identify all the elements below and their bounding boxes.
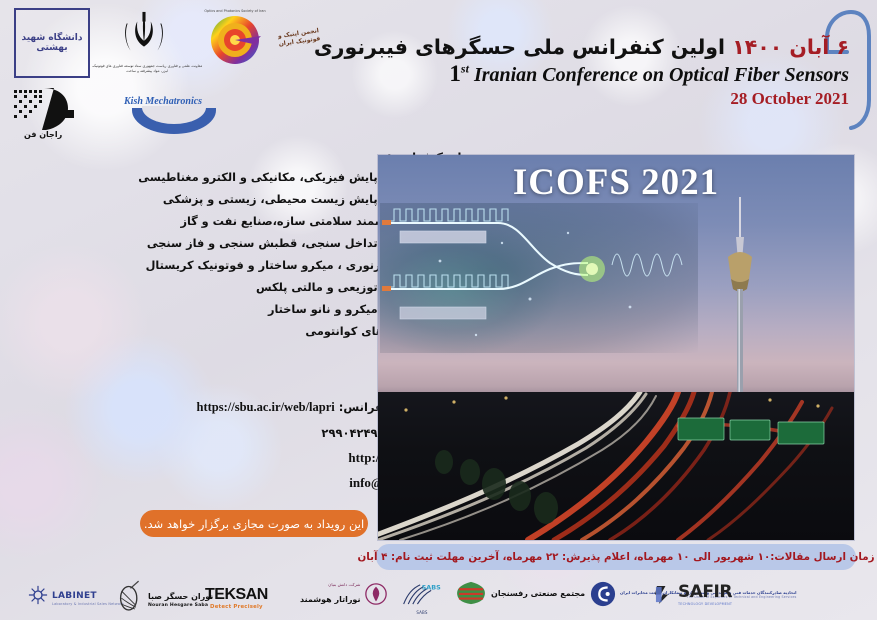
sbu-logo-text: دانشگاه شهید بهشتی bbox=[16, 33, 88, 54]
virtual-event-notice: این رویداد به صورت مجازی برگزار خواهد شد… bbox=[140, 510, 368, 537]
logo-shahid-beheshti-university: دانشگاه شهید بهشتی bbox=[14, 8, 90, 78]
opsi-caption: Optics and Photonics Society of Iran bbox=[204, 9, 265, 13]
sabs-mark-icon: SABS bbox=[400, 582, 444, 606]
teksan-tagline: Detect Precisely bbox=[205, 604, 268, 610]
conference-date-persian: ۶ آبان ۱۴۰۰ bbox=[732, 35, 849, 59]
sabs-label: SABS bbox=[400, 610, 444, 615]
safir-mark-icon bbox=[655, 584, 674, 605]
nouran-saba-label: نوران حسگر صبا Nouran Hesgare Saba bbox=[148, 584, 213, 608]
nouran-saba-mark-icon bbox=[117, 580, 144, 611]
rafsanjan-mark-icon bbox=[455, 580, 487, 606]
sabs-wordmark: SABS bbox=[422, 583, 441, 591]
optical-waveguide-graphic bbox=[380, 203, 698, 353]
iran-emblem-icon bbox=[115, 10, 173, 62]
kish-swoosh-shape bbox=[132, 108, 216, 134]
sponsor-teksan: TEKSAN Detect Precisely bbox=[205, 584, 268, 610]
conference-date-english: 28 October 2021 bbox=[329, 89, 849, 109]
nouratar-label: شرکت دانش بنیان نوراتار هوشمند bbox=[300, 582, 360, 606]
teksan-label: TEKSAN bbox=[205, 586, 268, 603]
top-logo-row-secondary: راجان فن Kish Mechatronics bbox=[0, 82, 260, 144]
sponsor-labinet: LABINET Laboratory & Industrial Sales Ne… bbox=[28, 583, 124, 606]
labinet-mark-icon bbox=[28, 585, 48, 605]
labinet-label: LABINET Laboratory & Industrial Sales Ne… bbox=[52, 583, 124, 606]
rajan-fan-label: راجان فن bbox=[24, 130, 62, 139]
title-persian: ۶ آبان ۱۴۰۰ اولین کنفرانس ملی حسگرهای فی… bbox=[329, 36, 849, 60]
safir-label: SAFIR TECHNOLOGY DEVELOPMENT bbox=[678, 582, 732, 606]
conference-poster: دانشگاه شهید بهشتی معاونت علمی و فناوری … bbox=[0, 0, 877, 620]
light-trails-graphic bbox=[378, 392, 854, 540]
deadline-banner: زمان ارسال مقالات:۱۰ شهریور الی ۱۰ مهرما… bbox=[376, 544, 856, 570]
ordinal-number: 1st bbox=[449, 61, 469, 86]
conference-title-english: Iranian Conference on Optical Fiber Sens… bbox=[474, 64, 849, 86]
iran-emblem-caption: معاونت علمی و فناوری ریاست جمهوری ستاد ت… bbox=[88, 64, 206, 74]
sponsor-nouratar-hooshmand: شرکت دانش بنیان نوراتار هوشمند bbox=[300, 582, 388, 606]
title-block: ۶ آبان ۱۴۰۰ اولین کنفرانس ملی حسگرهای فی… bbox=[329, 36, 849, 109]
highway-night-scene bbox=[378, 392, 854, 540]
logo-kish-mechatronics: Kish Mechatronics bbox=[118, 94, 226, 136]
conference-hero-image: ICOFS 2021 bbox=[378, 155, 854, 540]
opsi-target-icon: Optics and Photonics Society of Iran bbox=[203, 6, 267, 70]
rafsanjan-label: مجتمع صنعتی رفسنجان bbox=[491, 589, 585, 598]
top-logo-row-primary: دانشگاه شهید بهشتی معاونت علمی و فناوری … bbox=[0, 2, 340, 80]
logo-iran-emblem bbox=[115, 10, 173, 62]
photo-overlay-title: ICOFS 2021 bbox=[378, 161, 854, 204]
logo-rajan-fan: راجان فن bbox=[10, 86, 96, 142]
contact-address-url[interactable]: https://sbu.ac.ir/web/lapri bbox=[197, 400, 335, 415]
sponsor-logo-bar: LABINET Laboratory & Industrial Sales Ne… bbox=[0, 570, 877, 620]
nouratar-mark-icon bbox=[364, 582, 388, 606]
union-mark-icon bbox=[590, 581, 616, 607]
sponsor-nouran-hesgare-saba: نوران حسگر صبا Nouran Hesgare Saba bbox=[117, 580, 213, 611]
logo-opsi: Optics and Photonics Society of Iran bbox=[203, 6, 267, 70]
sponsor-safir: SAFIR TECHNOLOGY DEVELOPMENT bbox=[655, 582, 732, 606]
conference-title-persian: اولین کنفرانس ملی حسگرهای فیبرنوری bbox=[314, 35, 725, 59]
sponsor-rafsanjan-industrial-complex: مجتمع صنعتی رفسنجان bbox=[455, 580, 585, 606]
title-english: 1st Iranian Conference on Optical Fiber … bbox=[329, 61, 849, 87]
sponsor-sabs: SABS SABS bbox=[400, 582, 444, 615]
